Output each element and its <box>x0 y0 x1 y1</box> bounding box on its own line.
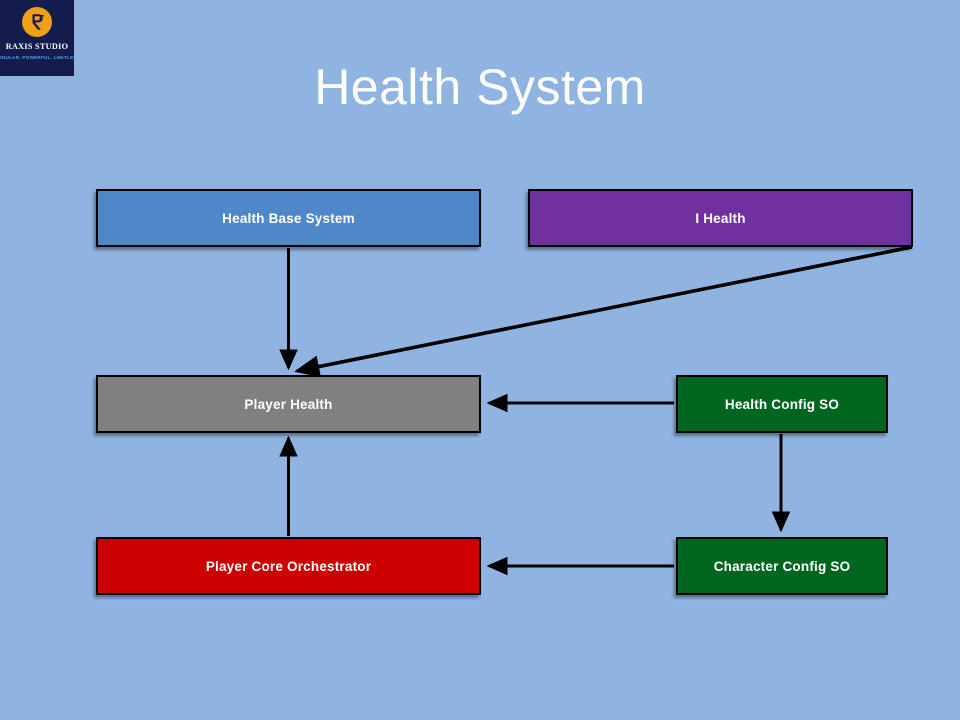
connector-i-health-to-player-health <box>297 247 912 371</box>
diagram-node-label: Character Config SO <box>714 559 851 574</box>
diagram-node-i-health[interactable]: I Health <box>528 189 913 247</box>
page-title: Health System <box>0 57 960 117</box>
diagram-node-player-health[interactable]: Player Health <box>96 375 481 433</box>
diagram-node-label: Player Health <box>244 397 332 412</box>
diagram-node-character-config-so[interactable]: Character Config SO <box>676 537 888 595</box>
diagram-node-label: I Health <box>695 211 745 226</box>
raxis-r-monogram-icon <box>22 7 52 37</box>
studio-logo-name: RAXIS STUDIO <box>6 42 69 51</box>
diagram-node-label: Player Core Orchestrator <box>206 559 371 574</box>
diagram-node-label: Health Base System <box>222 211 355 226</box>
diagram-node-health-config-so[interactable]: Health Config SO <box>676 375 888 433</box>
diagram-node-player-core-orchestrator[interactable]: Player Core Orchestrator <box>96 537 481 595</box>
diagram-node-health-base-system[interactable]: Health Base System <box>96 189 481 247</box>
diagram-node-label: Health Config SO <box>725 397 839 412</box>
slide-canvas: RAXIS STUDIO MODULAR. POWERFUL. LIMITLES… <box>0 0 960 720</box>
